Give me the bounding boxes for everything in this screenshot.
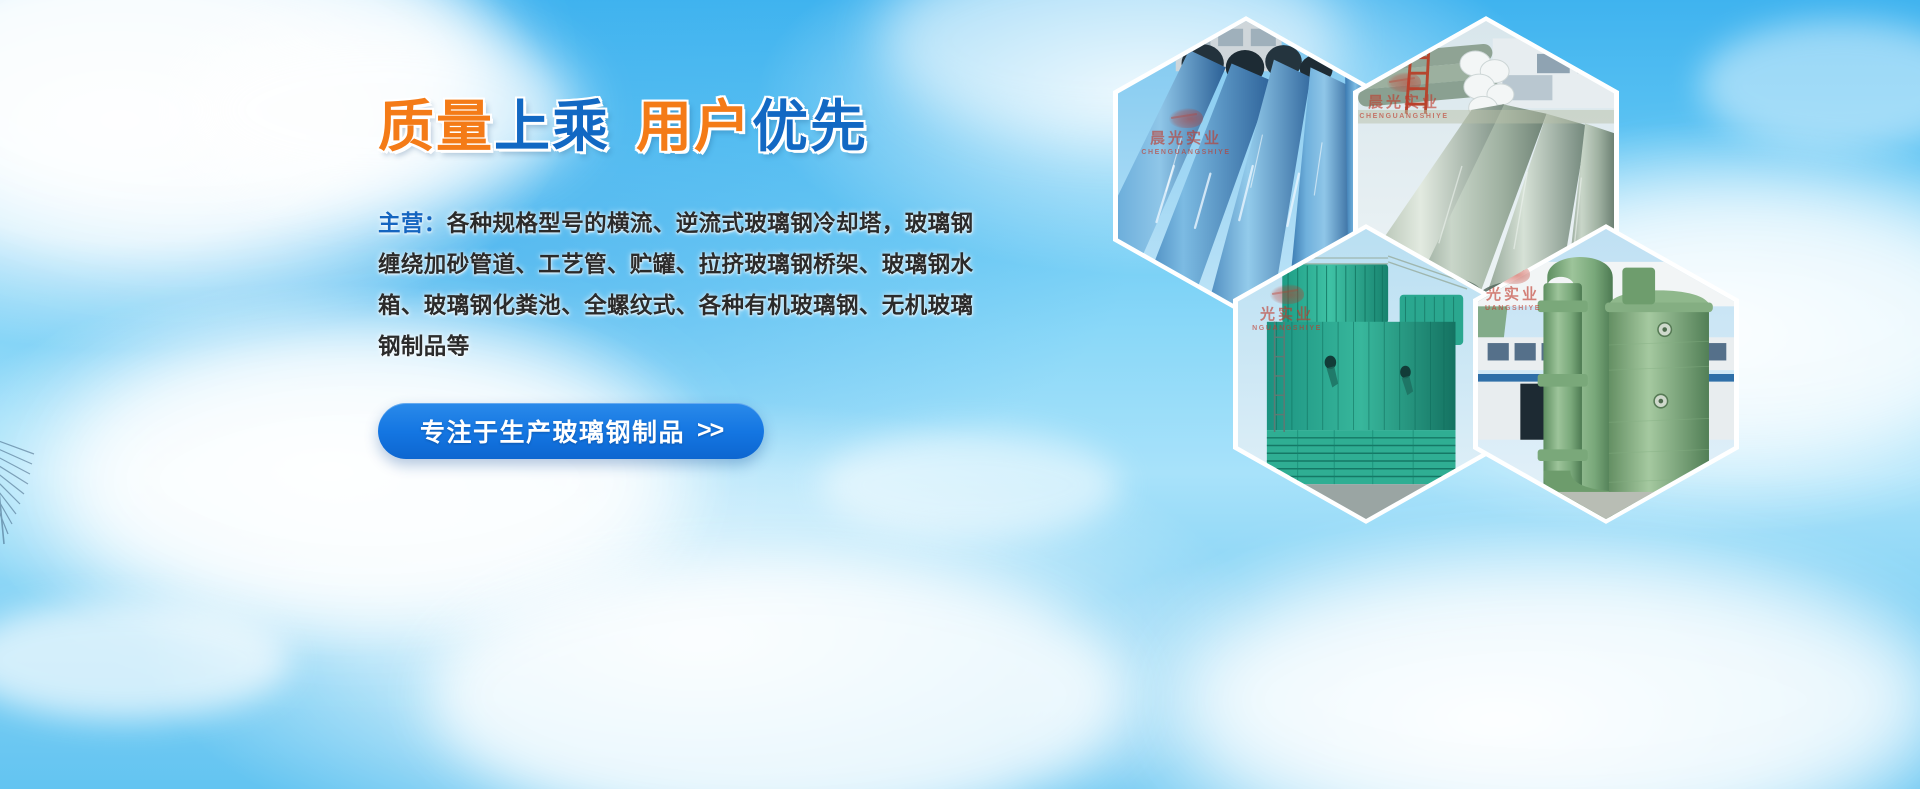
- hero-banner: 质量上乘用户优先 主营：各种规格型号的横流、逆流式玻璃钢冷却塔，玻璃钢缠绕加砂管…: [0, 0, 1920, 789]
- product-description: 主营：各种规格型号的横流、逆流式玻璃钢冷却塔，玻璃钢缠绕加砂管道、工艺管、贮罐、…: [378, 203, 988, 367]
- cta-button[interactable]: 专注于生产玻璃钢制品 >>: [378, 403, 764, 459]
- cloud-shape: [1180, 560, 1920, 789]
- page-title: 质量上乘用户优先: [378, 96, 978, 159]
- description-lead: 主营：: [378, 211, 447, 236]
- cloud-shape: [0, 600, 290, 720]
- cta-label: 专注于生产玻璃钢制品: [420, 413, 685, 449]
- palm-frond-icon: [0, 438, 36, 548]
- hero-copy: 质量上乘用户优先 主营：各种规格型号的横流、逆流式玻璃钢冷却塔，玻璃钢缠绕加砂管…: [378, 96, 978, 459]
- cloud-shape: [430, 560, 1130, 789]
- headline-part-4: 优先: [752, 95, 868, 158]
- headline-part-3: 用户: [636, 95, 752, 158]
- hexagon-photo-collage: 晨光实业 CHENGUANGSHIYE: [1113, 2, 1853, 542]
- double-chevron-right-icon: >>: [697, 416, 722, 445]
- headline-part-2: 上乘: [494, 95, 610, 158]
- headline-part-1: 质量: [378, 95, 494, 158]
